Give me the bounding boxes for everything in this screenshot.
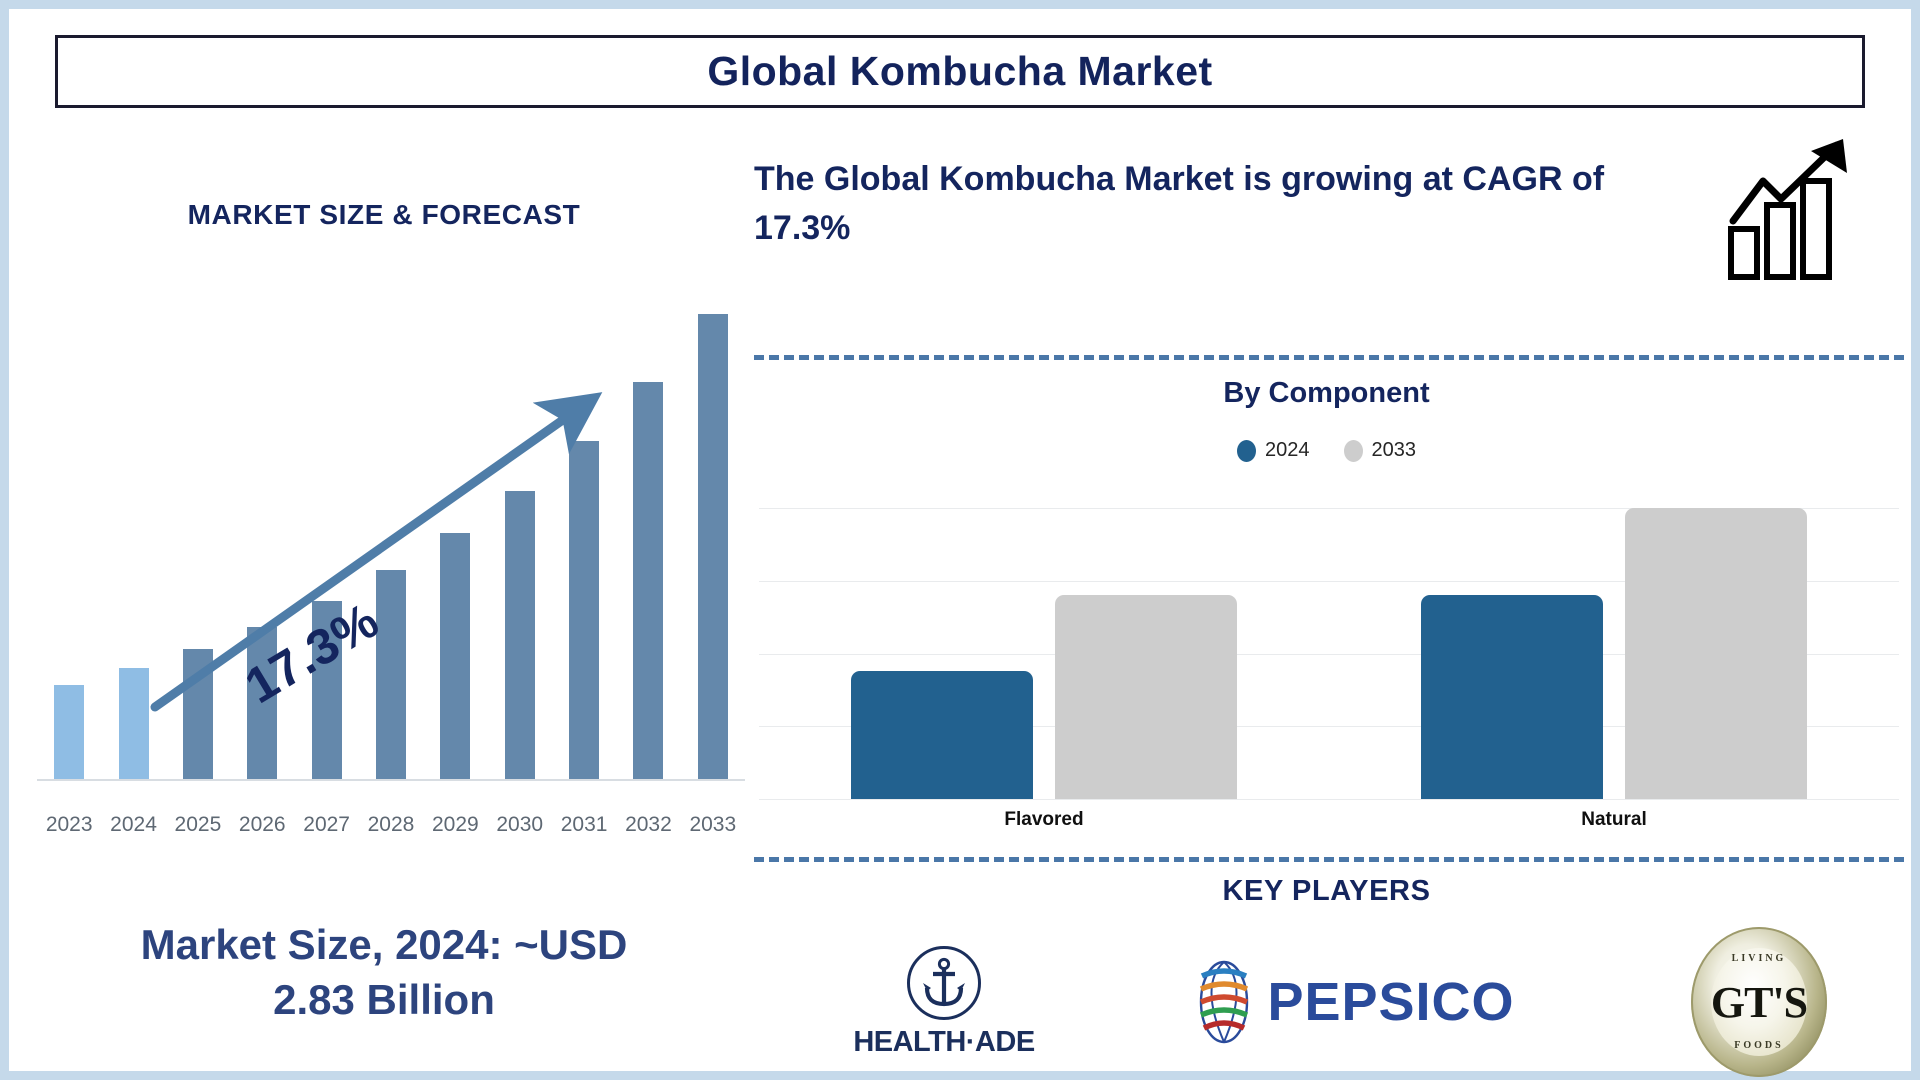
market-size-callout: Market Size, 2024: ~USD 2.83 Billion <box>19 917 749 1028</box>
logo-pepsico[interactable]: PEPSICO <box>1129 927 1579 1077</box>
market-size-line-2: 2.83 Billion <box>273 976 495 1023</box>
market-size-line-1: Market Size, 2024: ~USD <box>141 921 628 968</box>
logo-health-ade[interactable]: HEALTH·ADE <box>799 927 1089 1077</box>
forecast-year-label: 2027 <box>294 813 358 837</box>
gts-bottom-text: FOODS <box>1691 1040 1827 1051</box>
globe-icon <box>1193 958 1255 1046</box>
forecast-bar <box>505 491 535 779</box>
by-component-category-labels: FlavoredNatural <box>759 809 1899 839</box>
growth-arrow-bars-icon <box>1725 137 1875 282</box>
infographic-root: Global Kombucha Market MARKET SIZE & FOR… <box>0 0 1920 1080</box>
legend-label: 2033 <box>1372 439 1417 462</box>
component-bar <box>1625 508 1807 799</box>
anchor-circle <box>907 946 981 1020</box>
divider-bottom <box>754 857 1904 862</box>
market-forecast-bar-chart: 2023202420252026202720282029203020312032… <box>27 267 745 867</box>
legend-item[interactable]: 2024 <box>1237 439 1310 462</box>
by-component-title: By Component <box>749 377 1904 410</box>
pepsico-wordmark: PEPSICO <box>1267 971 1514 1033</box>
left-panel: MARKET SIZE & FORECAST 20232024202520262… <box>19 127 749 1072</box>
page-title: Global Kombucha Market <box>707 48 1212 95</box>
forecast-year-label: 2031 <box>552 813 616 837</box>
legend-label: 2024 <box>1265 439 1310 462</box>
health-ade-wordmark: HEALTH·ADE <box>853 1026 1034 1059</box>
logo-gts-living-foods[interactable]: GT'S LIVING FOODS <box>1629 927 1889 1077</box>
seal-icon: GT'S LIVING FOODS <box>1691 927 1827 1077</box>
forecast-year-label: 2030 <box>488 813 552 837</box>
key-players-title: KEY PLAYERS <box>749 875 1904 908</box>
forecast-bar <box>569 441 599 779</box>
forecast-bar <box>183 649 213 779</box>
forecast-bar <box>440 533 470 779</box>
divider-top <box>754 355 1904 360</box>
legend-swatch <box>1344 440 1363 462</box>
component-bar <box>851 671 1033 799</box>
forecast-year-label: 2028 <box>359 813 423 837</box>
anchor-icon <box>921 957 967 1009</box>
forecast-bar <box>376 570 406 779</box>
forecast-year-label: 2032 <box>616 813 680 837</box>
component-category-label: Flavored <box>759 809 1329 831</box>
gts-wordmark: GT'S <box>1711 977 1807 1028</box>
forecast-bar <box>54 685 84 779</box>
gts-top-text: LIVING <box>1691 953 1827 964</box>
forecast-year-label: 2029 <box>423 813 487 837</box>
component-bar <box>1055 595 1237 799</box>
forecast-bar <box>633 382 663 779</box>
legend-swatch <box>1237 440 1256 462</box>
forecast-year-label: 2025 <box>166 813 230 837</box>
page-title-box: Global Kombucha Market <box>55 35 1865 108</box>
key-players-logos: HEALTH·ADE PEPSICO <box>749 927 1904 1077</box>
by-component-legend: 20242033 <box>749 439 1904 462</box>
market-size-forecast-heading: MARKET SIZE & FORECAST <box>19 199 749 231</box>
by-component-bar-chart <box>759 479 1899 799</box>
forecast-year-label: 2026 <box>230 813 294 837</box>
forecast-bar <box>119 668 149 779</box>
forecast-bars <box>37 259 745 779</box>
forecast-axis-line <box>37 779 745 781</box>
forecast-year-label: 2024 <box>101 813 165 837</box>
component-bar <box>1421 595 1603 799</box>
cagr-headline: The Global Kombucha Market is growing at… <box>754 155 1694 254</box>
forecast-year-label: 2023 <box>37 813 101 837</box>
forecast-year-labels: 2023202420252026202720282029203020312032… <box>37 797 745 837</box>
gridline <box>759 799 1899 800</box>
legend-item[interactable]: 2033 <box>1344 439 1417 462</box>
component-category-label: Natural <box>1329 809 1899 831</box>
forecast-year-label: 2033 <box>681 813 745 837</box>
right-panel: The Global Kombucha Market is growing at… <box>749 127 1911 1072</box>
forecast-bar <box>698 314 728 779</box>
